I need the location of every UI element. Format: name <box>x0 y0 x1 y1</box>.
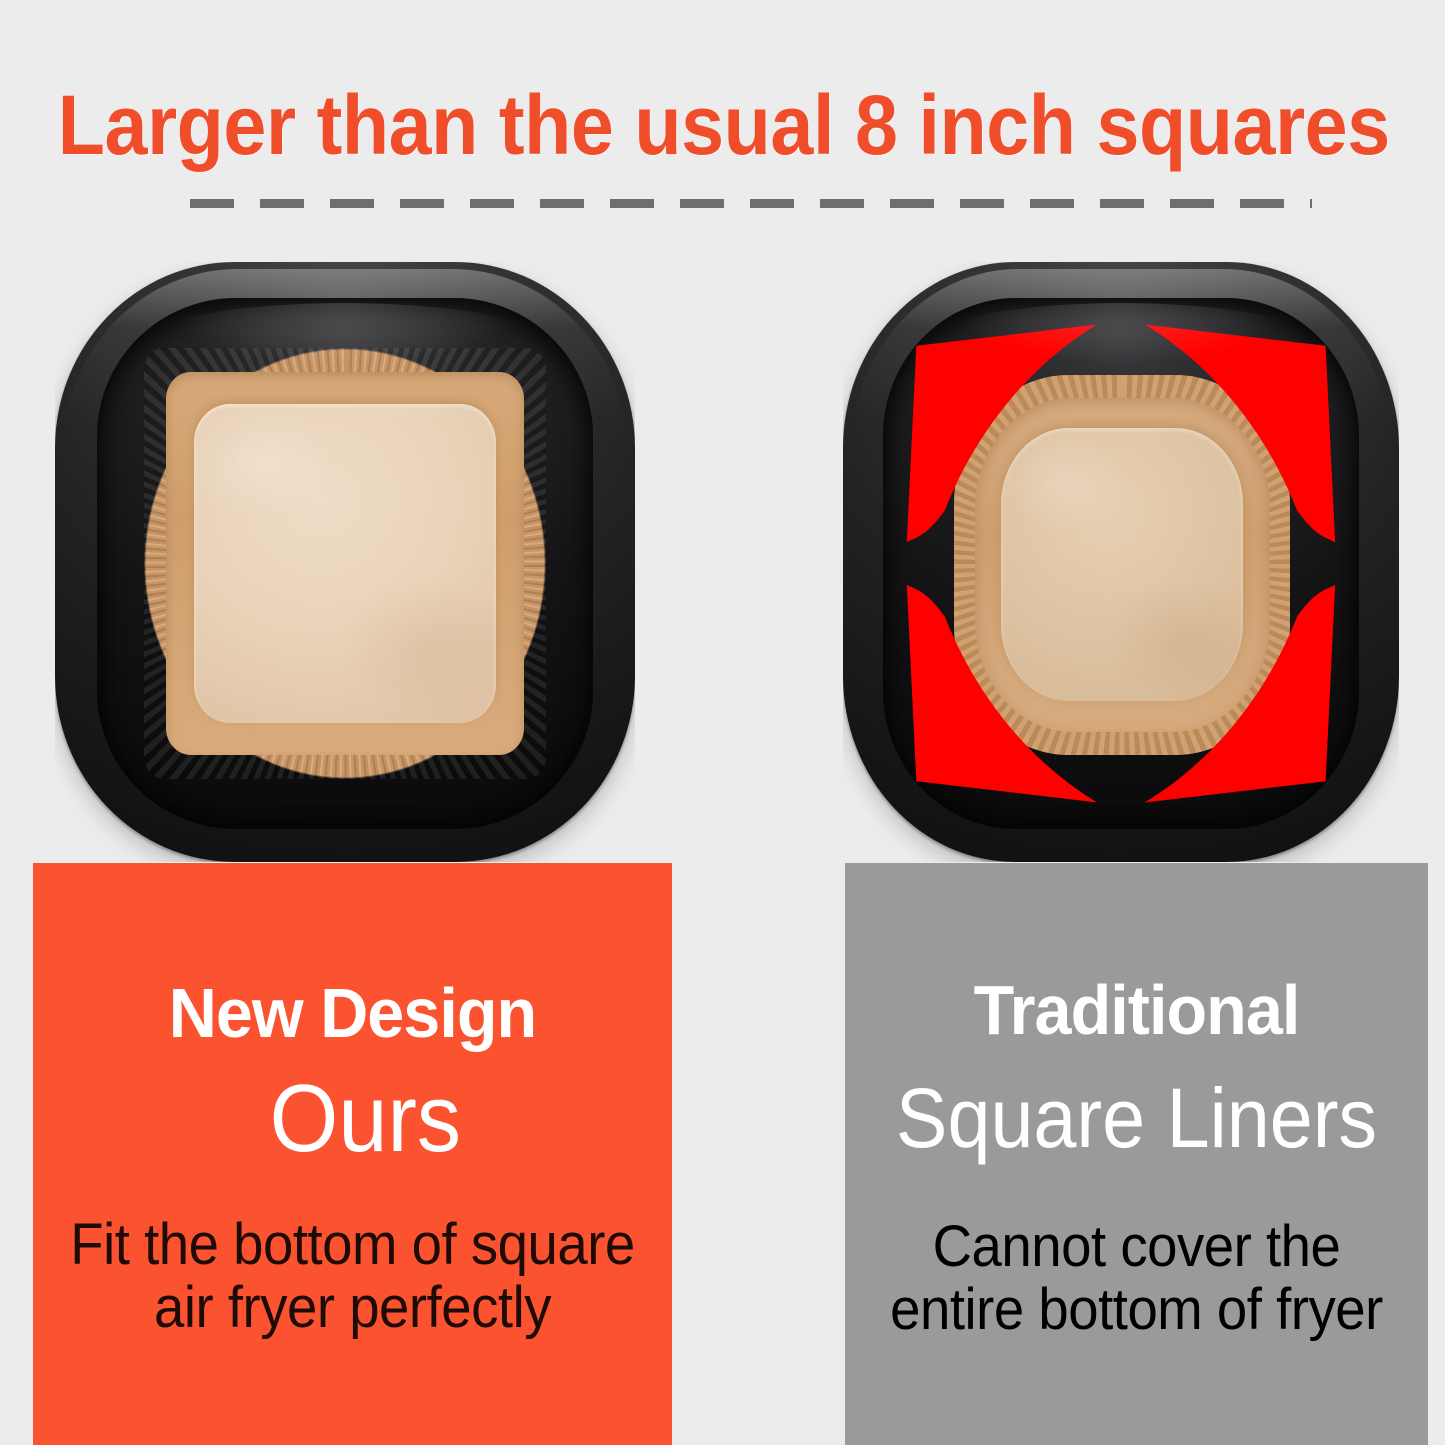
panel-subtitle-ours: Ours <box>71 1069 659 1169</box>
panel-title-new-design: New Design <box>49 976 656 1050</box>
air-fryer-basket-right <box>843 262 1399 862</box>
air-fryer-basket-left <box>55 262 635 862</box>
infographic-stage: Larger than the usual 8 inch squares <box>0 0 1445 1445</box>
page-headline: Larger than the usual 8 inch squares <box>58 82 1387 168</box>
basket-cavity-left <box>97 298 593 829</box>
square-paper-liner <box>144 348 546 778</box>
panel-description-traditional: Cannot cover the entire bottom of fryer <box>862 1215 1410 1341</box>
panel-subtitle-square-liners: Square Liners <box>868 1073 1404 1163</box>
caption-panel-traditional: Traditional Square Liners Cannot cover t… <box>845 863 1428 1445</box>
caption-panel-new-design: New Design Ours Fit the bottom of square… <box>33 863 672 1445</box>
basket-cavity-right <box>883 298 1359 829</box>
red-corner-bottom-left <box>907 585 1097 803</box>
product-photo-new-design <box>55 262 635 862</box>
dashed-divider <box>190 199 1312 208</box>
panel-description-new-design: Fit the bottom of square air fryer perfe… <box>52 1213 653 1339</box>
product-photo-traditional <box>843 262 1399 862</box>
uncovered-corner-highlights <box>883 298 1359 829</box>
liner-base <box>194 404 496 722</box>
red-corner-bottom-right <box>1145 585 1335 803</box>
red-corner-top-right <box>1145 325 1335 543</box>
panel-title-traditional: Traditional <box>860 973 1414 1047</box>
red-corner-top-left <box>907 325 1097 543</box>
